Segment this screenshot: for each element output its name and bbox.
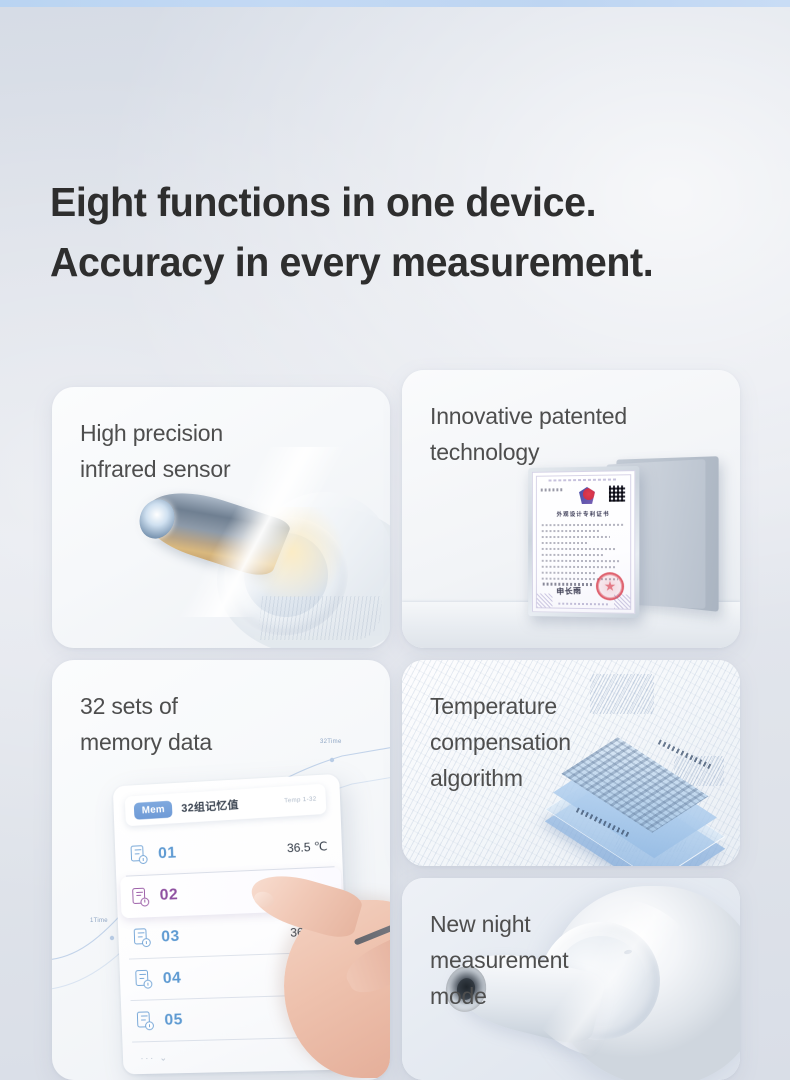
- certificate-frame: 外观设计专利证书 申长雨: [528, 466, 639, 618]
- certificate-signature: 申长雨: [556, 585, 582, 597]
- feature-card-temperature-compensation[interactable]: Temperature compensation algorithm: [402, 660, 740, 866]
- isometric-chip: [570, 712, 720, 862]
- mem-badge: Mem: [134, 800, 173, 819]
- certificate-corner-left: [537, 593, 553, 607]
- probe-texture-lines: [258, 596, 383, 640]
- memory-row-index: 03: [161, 927, 180, 946]
- memory-row-temperature: 37.2: [309, 966, 333, 981]
- memory-row-index: 02: [159, 886, 178, 905]
- pcb-trace-block: [590, 674, 654, 714]
- headline-line-1: Eight functions in one device.: [50, 172, 760, 232]
- memory-header-range: Temp 1-32: [284, 796, 317, 804]
- memory-list-screen[interactable]: Mem 32组记忆值 Temp 1-32 01 36.5 ℃ 02 03: [113, 774, 351, 1075]
- memory-row-temperature: 36.6 ℃: [290, 924, 331, 940]
- card-title: High precision infrared sensor: [80, 415, 230, 487]
- feature-card-infrared-sensor[interactable]: High precision infrared sensor: [52, 387, 390, 648]
- memory-row[interactable]: 05 37.1 ℃: [131, 995, 342, 1043]
- memory-row-index: 01: [158, 844, 177, 863]
- memory-record-icon: [132, 887, 149, 906]
- feature-card-night-measurement[interactable]: New night measurement mode: [402, 878, 740, 1080]
- memory-record-icon: [137, 1011, 154, 1030]
- memory-record-icon: [134, 928, 151, 947]
- more-records-indicator[interactable]: ··· ⌄: [140, 1053, 169, 1065]
- memory-record-icon: [131, 845, 148, 865]
- chip-pins-right: [658, 740, 712, 770]
- memory-list-header: Mem 32组记忆值 Temp 1-32: [125, 784, 327, 827]
- chart-label-first-time: 1Time: [90, 918, 108, 924]
- certificate-paper: 外观设计专利证书 申长雨: [532, 470, 635, 614]
- memory-row[interactable]: 04 37.2: [129, 952, 339, 1001]
- card-title: Temperature compensation algorithm: [430, 688, 571, 796]
- certificate-issuer-label: [541, 488, 562, 491]
- probe-warm-glow: [232, 507, 352, 597]
- feature-card-patented-technology[interactable]: 外观设计专利证书 申长雨 Innovative patented technol…: [402, 370, 740, 648]
- page-headline: Eight functions in one device. Accuracy …: [50, 172, 790, 292]
- card-title: New night measurement mode: [430, 906, 568, 1014]
- memory-row-temperature: 37.1 ℃: [293, 1009, 334, 1024]
- memory-record-icon: [135, 970, 152, 989]
- memory-rows: 01 36.5 ℃ 02 03 36.6 ℃ 04 37.2: [124, 825, 341, 1043]
- certificate-corner-right: [614, 594, 630, 608]
- card-title: 32 sets of memory data: [80, 688, 212, 760]
- chart-label-last-time: 32Time: [320, 739, 342, 745]
- memory-header-title: 32组记忆值: [181, 796, 239, 816]
- memory-row-index: 05: [164, 1011, 183, 1029]
- top-accent-strip: [0, 0, 790, 7]
- memory-row[interactable]: 03 36.6 ℃: [127, 910, 337, 960]
- headline-line-2: Accuracy in every measurement.: [50, 232, 760, 292]
- feature-card-memory-data[interactable]: 1Time 32Time Mem 32组记忆值 Temp 1-32 01 36.…: [52, 660, 390, 1080]
- card-title: Innovative patented technology: [430, 398, 627, 470]
- memory-row-temperature: 36.5 ℃: [287, 839, 328, 855]
- certificate-title: 外观设计专利证书: [533, 510, 634, 519]
- page-background: Eight functions in one device. Accuracy …: [0, 0, 790, 1080]
- qr-code-icon: [609, 485, 625, 501]
- memory-row-index: 04: [163, 969, 182, 987]
